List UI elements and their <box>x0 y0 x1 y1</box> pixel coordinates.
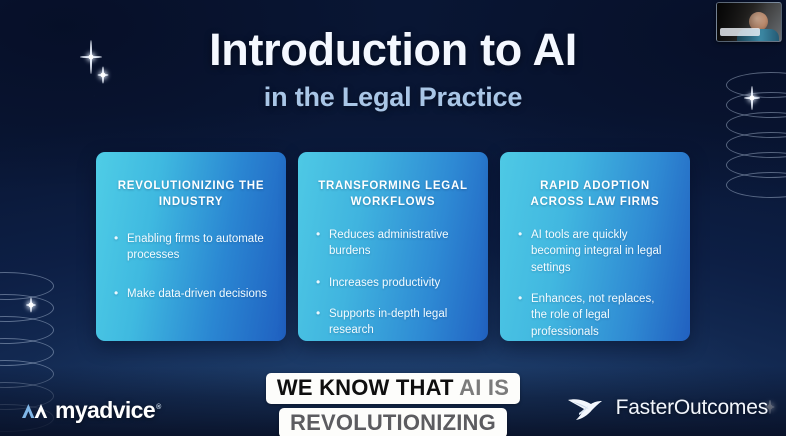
card-bullet-list: AI tools are quickly becoming integral i… <box>518 227 672 341</box>
mountain-chevron-icon <box>22 403 49 418</box>
list-item: Enhances, not replaces, the role of lega… <box>518 291 672 340</box>
caption-line-1-dark: WE KNOW THAT <box>277 375 454 400</box>
presenter-video-tile[interactable] <box>716 2 782 42</box>
card-title: REVOLUTIONIZING THE INDUSTRY <box>114 178 268 211</box>
card-transforming-legal-workflows: TRANSFORMING LEGAL WORKFLOWS Reduces adm… <box>298 152 488 341</box>
fasteroutcomes-logo: FasterOutcomes <box>567 395 768 421</box>
logo-word-advice: advice <box>87 397 155 423</box>
card-bullet-list: Reduces administrative burdens Increases… <box>316 227 470 339</box>
list-item: AI tools are quickly becoming integral i… <box>518 227 672 276</box>
presentation-slide: Introduction to AI in the Legal Practice… <box>0 0 786 436</box>
list-item: Increases productivity <box>316 275 470 291</box>
falcon-bird-icon <box>567 395 607 421</box>
participant-name-label <box>720 28 760 36</box>
fasteroutcomes-wordmark: FasterOutcomes <box>616 396 768 420</box>
myadvice-wordmark: myadvice® <box>55 397 161 424</box>
card-title: RAPID ADOPTION ACROSS LAW FIRMS <box>518 178 672 211</box>
title-block: Introduction to AI in the Legal Practice <box>0 26 786 113</box>
caption-line-1-grey: AI IS <box>459 375 509 400</box>
page-subtitle: in the Legal Practice <box>0 82 786 113</box>
caption-line-2: REVOLUTIONIZING <box>279 408 507 436</box>
card-rapid-adoption-across-law-firms: RAPID ADOPTION ACROSS LAW FIRMS AI tools… <box>500 152 690 341</box>
list-item: Make data-driven decisions <box>114 286 268 302</box>
caption-line-1: WE KNOW THAT AI IS <box>266 373 520 403</box>
card-revolutionizing-the-industry: REVOLUTIONIZING THE INDUSTRY Enabling fi… <box>96 152 286 341</box>
list-item: Reduces administrative burdens <box>316 227 470 260</box>
logo-word-my: my <box>55 397 87 423</box>
cards-row: REVOLUTIONIZING THE INDUSTRY Enabling fi… <box>96 152 690 341</box>
myadvice-logo: myadvice® <box>22 397 161 424</box>
registered-mark: ® <box>156 404 161 411</box>
card-title: TRANSFORMING LEGAL WORKFLOWS <box>316 178 470 211</box>
page-title: Introduction to AI <box>0 26 786 75</box>
list-item: Supports in-depth legal research <box>316 306 470 339</box>
list-item: Enabling firms to automate processes <box>114 231 268 264</box>
card-bullet-list: Enabling firms to automate processes Mak… <box>114 231 268 302</box>
